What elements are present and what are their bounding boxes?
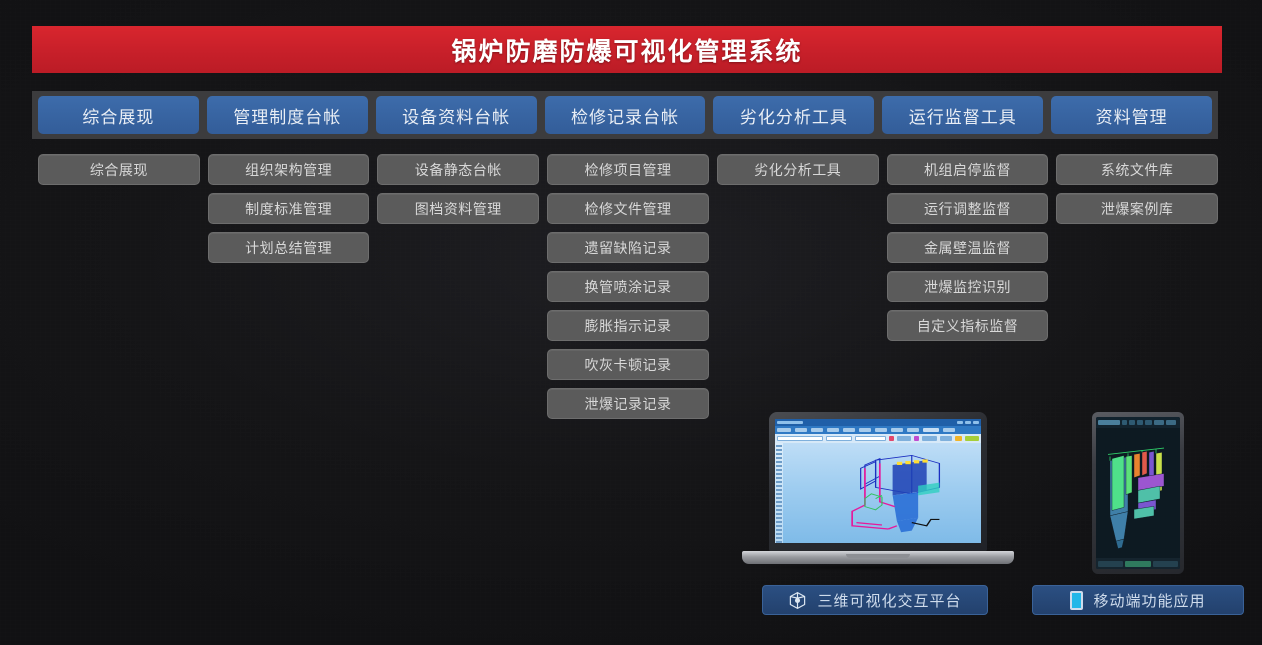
mobile-app-button[interactable]: 移动端功能应用: [1032, 585, 1244, 615]
phone-screen: [1096, 417, 1180, 569]
submenu-column-2: 组织架构管理 制度标准管理 计划总结管理: [208, 154, 370, 419]
menu-item-xitongwenjianku[interactable]: 系统文件库: [1056, 154, 1218, 185]
laptop-base: [742, 551, 1014, 564]
menu-item-jianxiuxiangmuguanli[interactable]: 检修项目管理: [547, 154, 709, 185]
submenu-column-3: 设备静态台帐 图档资料管理: [377, 154, 539, 419]
laptop-tree-panel: [775, 443, 783, 543]
submenu-column-1: 综合展现: [38, 154, 200, 419]
menu-item-pengzhangzhishijilu[interactable]: 膨胀指示记录: [547, 310, 709, 341]
menu-item-jizuqitingjiandu[interactable]: 机组启停监督: [887, 154, 1049, 185]
phone-bottom-toolbar: [1096, 558, 1180, 569]
page-title: 锅炉防磨防爆可视化管理系统: [451, 32, 802, 68]
menu-item-liehuafenxigongju[interactable]: 劣化分析工具: [717, 154, 879, 185]
submenu-column-4: 检修项目管理 检修文件管理 遗留缺陷记录 换管喷涂记录 膨胀指示记录 吹灰卡顿记…: [547, 154, 709, 419]
mobile-phone-icon: [1070, 591, 1083, 610]
app-root: 锅炉防磨防爆可视化管理系统 综合展现 管理制度台帐 设备资料台帐 检修记录台帐 …: [0, 0, 1262, 645]
submenu-column-6: 机组启停监督 运行调整监督 金属壁温监督 泄爆监控识别 自定义指标监督: [887, 154, 1049, 419]
menu-item-jinshubiwenjiandu[interactable]: 金属壁温监督: [887, 232, 1049, 263]
tab-shebeiziliaotaizhang[interactable]: 设备资料台帐: [376, 96, 537, 134]
tab-ziliaoguanli[interactable]: 资料管理: [1051, 96, 1212, 134]
submenu-column-7: 系统文件库 泄爆案例库: [1056, 154, 1218, 419]
menu-item-xiebaojiankongshibie[interactable]: 泄爆监控识别: [887, 271, 1049, 302]
page-title-banner: 锅炉防磨防爆可视化管理系统: [32, 26, 1222, 73]
cube-3d-icon: [788, 591, 807, 610]
tab-liehuafenxigongju[interactable]: 劣化分析工具: [713, 96, 874, 134]
menu-item-xiebaoanliku[interactable]: 泄爆案例库: [1056, 193, 1218, 224]
menu-item-zhidubiaozhunguanli[interactable]: 制度标准管理: [208, 193, 370, 224]
laptop-app-toolbar: [775, 434, 981, 443]
laptop-trackpad-notch: [846, 554, 910, 558]
laptop-lid: [769, 412, 987, 552]
menu-item-yunxingtiaozhengjiandu[interactable]: 运行调整监督: [887, 193, 1049, 224]
laptop-app-titlebar: [775, 419, 981, 426]
tab-guanlizhiduataizhang[interactable]: 管理制度台帐: [207, 96, 368, 134]
menu-item-zonghezhanxian[interactable]: 综合展现: [38, 154, 200, 185]
phone-boiler-3d-model: [1098, 429, 1178, 556]
phone-mockup: [1092, 412, 1184, 574]
laptop-shadow: [752, 564, 1004, 571]
menu-item-yiliuquexianjilu[interactable]: 遗留缺陷记录: [547, 232, 709, 263]
menu-item-chuihuikadunjilu[interactable]: 吹灰卡顿记录: [547, 349, 709, 380]
phone-app-toolbar: [1096, 417, 1180, 428]
laptop-screen: [775, 419, 981, 543]
menu-item-jianxiuwenjianguanli[interactable]: 检修文件管理: [547, 193, 709, 224]
laptop-viewport: [775, 443, 981, 543]
laptop-boiler-3d-model: [833, 449, 961, 537]
tab-zonghezhanxian[interactable]: 综合展现: [38, 96, 199, 134]
submenu-column-5: 劣化分析工具: [717, 154, 879, 419]
menu-item-tudangziliaoguanli[interactable]: 图档资料管理: [377, 193, 539, 224]
menu-item-jihuazongjieguanli[interactable]: 计划总结管理: [208, 232, 370, 263]
three-d-platform-label: 三维可视化交互平台: [817, 590, 961, 611]
menu-item-xiebaojilujilu[interactable]: 泄爆记录记录: [547, 388, 709, 419]
menu-item-shebeijingtaitaizhang[interactable]: 设备静态台帐: [377, 154, 539, 185]
menu-item-huanguanpentujilu[interactable]: 换管喷涂记录: [547, 271, 709, 302]
phone-body: [1092, 412, 1184, 574]
primary-tab-bar: 综合展现 管理制度台帐 设备资料台帐 检修记录台帐 劣化分析工具 运行监督工具 …: [32, 91, 1218, 139]
laptop-mockup: [742, 412, 1014, 574]
laptop-app-menubar: [775, 426, 981, 434]
mobile-app-label: 移动端功能应用: [1093, 590, 1205, 611]
three-d-platform-button[interactable]: 三维可视化交互平台: [762, 585, 988, 615]
menu-item-zuzhijiagouguanli[interactable]: 组织架构管理: [208, 154, 370, 185]
menu-item-zidingyizhibiaojiandu[interactable]: 自定义指标监督: [887, 310, 1049, 341]
submenu-columns: 综合展现 组织架构管理 制度标准管理 计划总结管理 设备静态台帐 图档资料管理 …: [38, 154, 1218, 419]
tab-yunxingjiandugongju[interactable]: 运行监督工具: [882, 96, 1043, 134]
tab-jianxiujilutaizhang[interactable]: 检修记录台帐: [545, 96, 706, 134]
